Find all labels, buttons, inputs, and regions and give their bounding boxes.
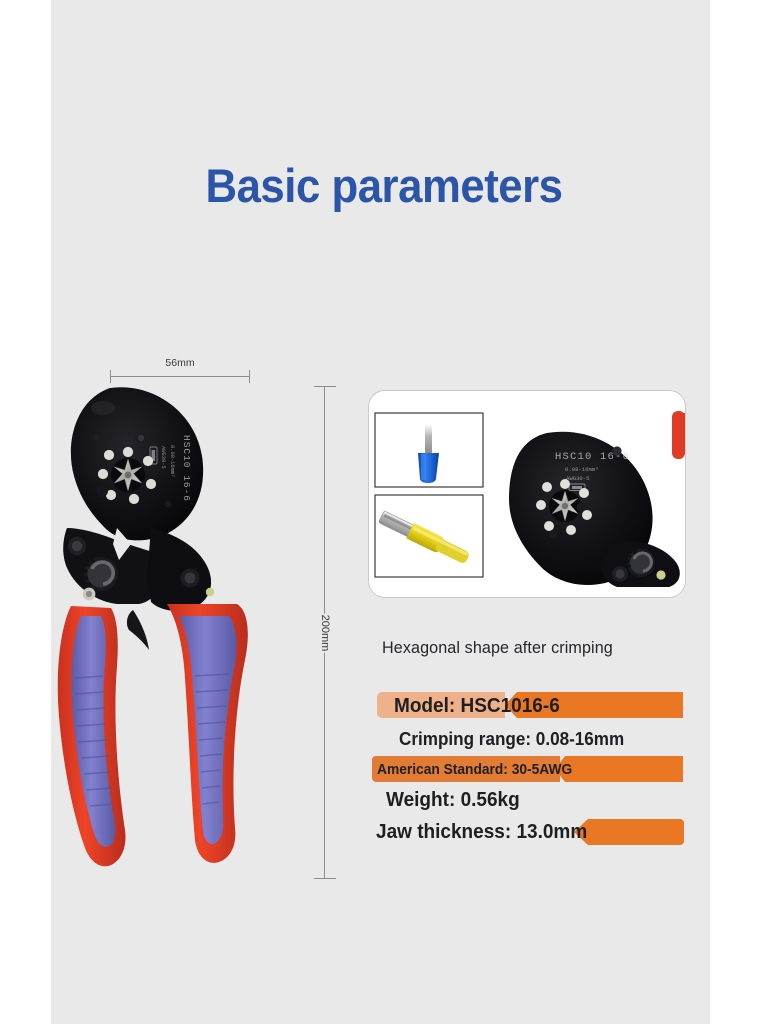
handle-right <box>167 604 248 863</box>
dimension-height-label: 200mm <box>316 613 334 652</box>
svg-text:0.08-16mm²: 0.08-16mm² <box>169 445 175 477</box>
spec-label-jaw-thickness: Jaw thickness: 13.0mm <box>376 819 587 845</box>
crimper-head: HSC10 16-6 0.08-16mm² AWG30-5 <box>71 387 203 540</box>
spec-bar-jaw-right <box>574 819 684 845</box>
inset-caption: Hexagonal shape after crimping <box>382 638 613 658</box>
spec-label-american-standard: American Standard: 30-5AWG <box>377 757 572 783</box>
svg-text:0.08-16mm²: 0.08-16mm² <box>565 466 599 473</box>
spec-row-jaw-thickness: Jaw thickness: 13.0mm <box>369 819 687 849</box>
spec-row-american-standard: American Standard: 30-5AWG <box>369 756 687 786</box>
crimper-linkage <box>63 528 214 611</box>
svg-text:AWG30-5: AWG30-5 <box>566 475 590 482</box>
dimension-height-tick-top <box>314 386 336 387</box>
svg-text:HSC10 16-6: HSC10 16-6 <box>181 435 192 502</box>
ferrule-frame-top <box>375 413 483 487</box>
svg-text:AWG30-5: AWG30-5 <box>160 446 166 469</box>
spec-row-weight: Weight: 0.56kg <box>369 787 687 817</box>
page-title: Basic parameters <box>27 158 741 213</box>
inset-card-hexagonal-crimp: HSC10 16-6 0.08-16mm² AWG30-5 <box>369 391 685 597</box>
spec-row-crimping-range: Crimping range: 0.08-16mm <box>369 726 687 756</box>
dimension-height-tick-bottom <box>314 878 336 879</box>
dimension-width-line <box>110 376 250 377</box>
spec-row-model: Model: HSC1016-6 <box>369 692 687 722</box>
ferrule-frame-bottom <box>375 495 483 577</box>
spec-label-crimping-range: Crimping range: 0.08-16mm <box>399 726 624 752</box>
dimension-width-label: 56mm <box>110 357 250 369</box>
spec-label-model: Model: HSC1016-6 <box>394 693 560 719</box>
specifications-list: Model: HSC1016-6 Crimping range: 0.08-16… <box>369 692 687 872</box>
spec-bar-awg-right <box>555 756 683 782</box>
product-spec-page: Basic parameters 56mm 200mm <box>0 0 768 1024</box>
product-photo-crimping-tool: HSC10 16-6 0.08-16mm² AWG30-5 <box>55 378 290 888</box>
handle-left <box>58 606 126 866</box>
trigger-tongue <box>127 610 149 650</box>
dimension-height: 200mm <box>310 386 340 879</box>
spec-label-weight: Weight: 0.56kg <box>386 787 520 813</box>
